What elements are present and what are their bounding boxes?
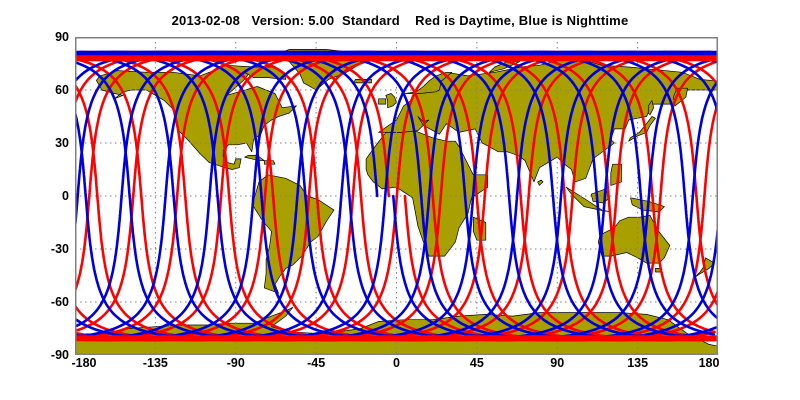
x-tick-label: 45 [470,357,484,370]
y-tick-label: 90 [29,31,69,44]
figure-title: 2013-02-08 Version: 5.00 Standard Red is… [0,13,800,28]
x-tick-label: -180 [71,357,96,370]
world-map-svg [75,37,718,355]
x-tick-label: 135 [627,357,648,370]
x-tick-label: -135 [143,357,168,370]
x-tick-label: 0 [393,357,400,370]
y-axis-labels: 9060300-30-60-90 [22,37,69,355]
y-tick-label: 60 [29,84,69,97]
y-tick-label: 0 [29,190,69,203]
groundtrack-map-figure: 2013-02-08 Version: 5.00 Standard Red is… [0,0,800,400]
y-tick-label: 30 [29,137,69,150]
y-tick-label: -60 [29,296,69,309]
x-axis-labels: -180-135-90-4504590135180 [75,357,718,377]
y-tick-label: -30 [29,243,69,256]
landmass-ireland [379,99,386,104]
x-tick-label: -90 [227,357,245,370]
y-tick-label: -90 [29,349,69,362]
plot-area [75,37,718,355]
x-tick-label: 180 [699,357,720,370]
x-tick-label: -45 [307,357,325,370]
x-tick-label: 90 [550,357,564,370]
